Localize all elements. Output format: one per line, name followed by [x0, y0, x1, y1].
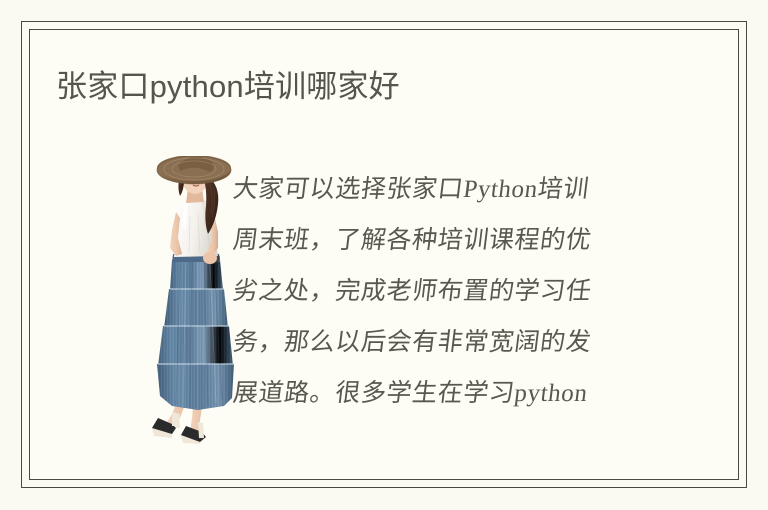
body-line: 展道路。很多学生在学习python [230, 368, 652, 419]
straw-hat [157, 156, 231, 184]
body-line: 劣之处，完成老师布置的学习任 [230, 266, 652, 317]
page-title: 张家口python培训哪家好 [56, 67, 400, 107]
article-card: 张家口python培训哪家好 [0, 0, 768, 510]
body-line: 大家可以选择张家口Python培训 [230, 164, 652, 215]
article-body: 大家可以选择张家口Python培训 周末班，了解各种培训课程的优 劣之处，完成老… [233, 164, 649, 419]
body-line: 务，那么以后会有非常宽阔的发 [230, 317, 652, 368]
body-line: 周末班，了解各种培训课程的优 [230, 215, 652, 266]
denim-skirt [157, 260, 234, 410]
